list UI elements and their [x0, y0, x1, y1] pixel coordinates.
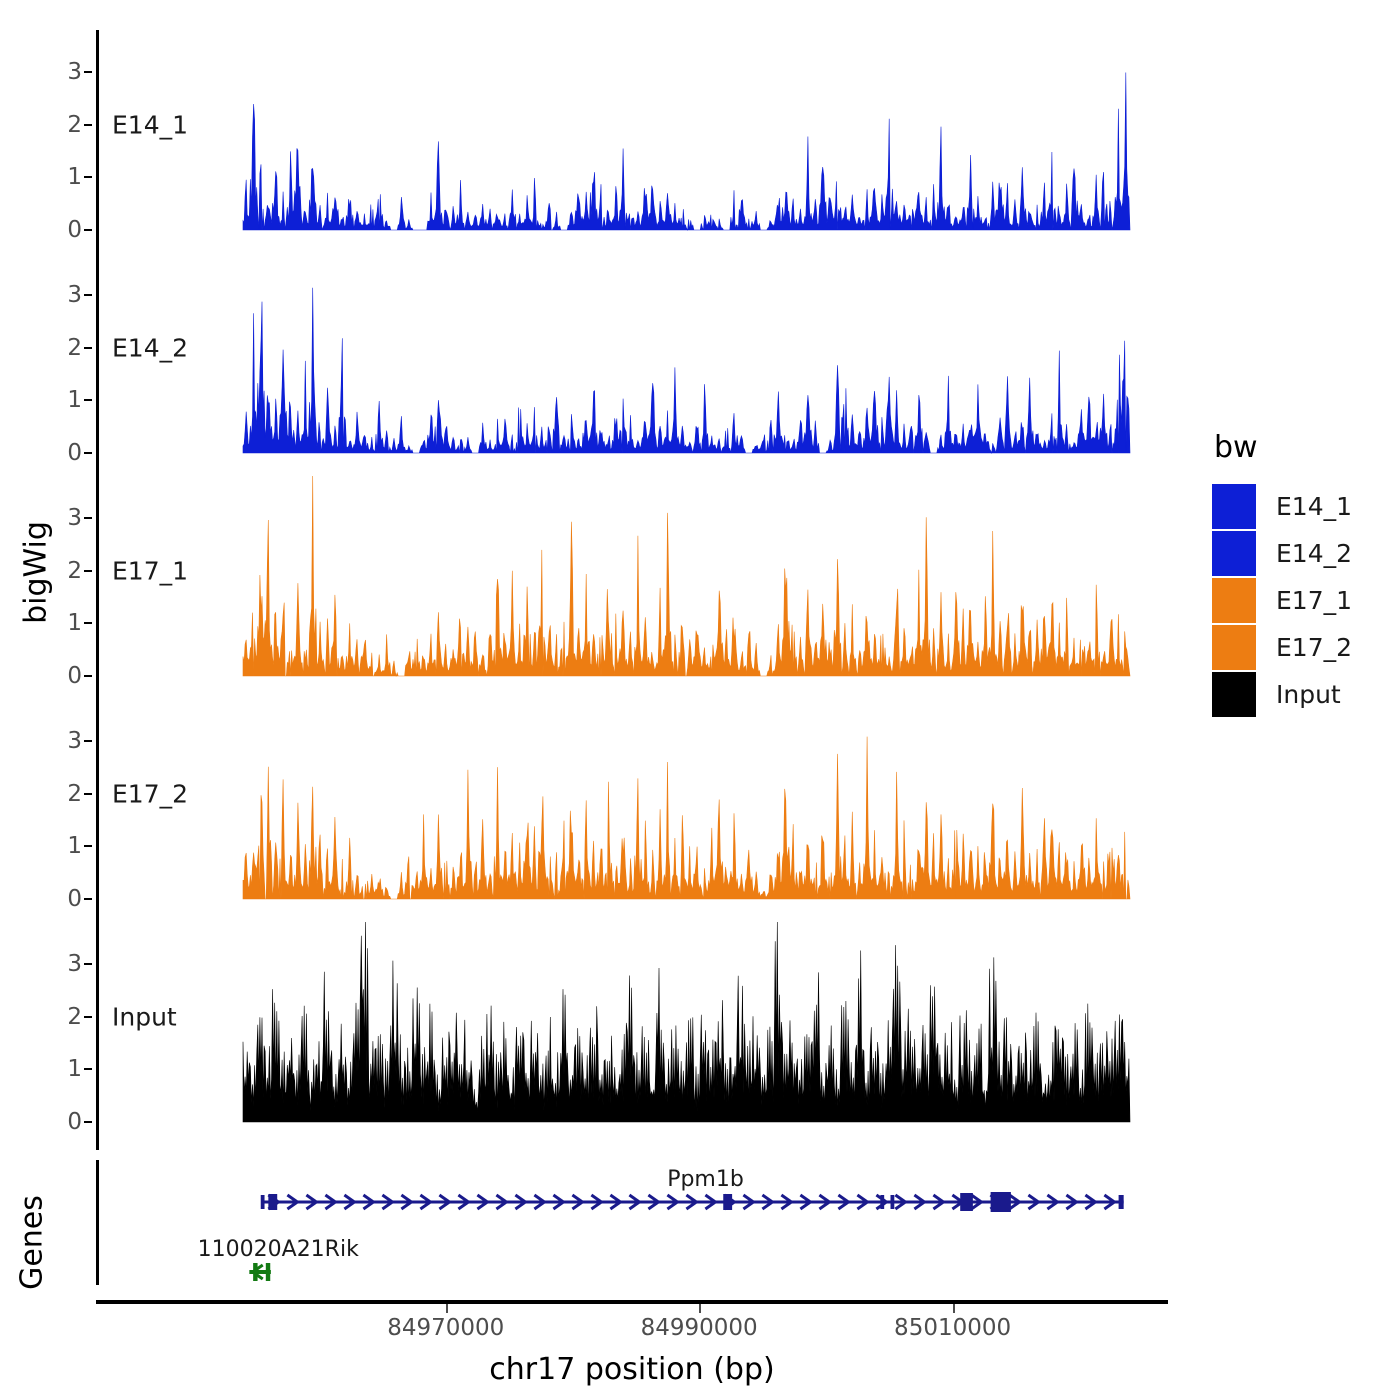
x-axis-line	[96, 1300, 1168, 1304]
y-tick-mark	[84, 622, 92, 624]
exon-block	[880, 1195, 884, 1209]
x-tick-label: 84970000	[387, 1315, 504, 1341]
y-tick-label: 2	[67, 781, 82, 807]
legend-title: bw	[1214, 430, 1392, 465]
y-tick-mark	[84, 793, 92, 795]
exon-block	[991, 1192, 1011, 1212]
track-label-e17_2: E17_2	[112, 779, 188, 808]
y-tick-mark	[84, 898, 92, 900]
y-tick-label: 1	[67, 387, 82, 413]
y-tick-label: 3	[67, 59, 82, 85]
exon-block	[1119, 1195, 1124, 1209]
legend-item-e17_2[interactable]: E17_2	[1212, 624, 1392, 671]
y-tick-labels: 0123	[44, 699, 92, 927]
y-tick-mark	[84, 1016, 92, 1018]
y-tick-mark	[84, 1121, 92, 1123]
y-tick-mark	[84, 294, 92, 296]
y-tick-mark	[84, 124, 92, 126]
y-tick-label: 2	[67, 1004, 82, 1030]
y-tick-mark	[84, 347, 92, 349]
legend-items: E14_1E14_2E17_1E17_2Input	[1212, 483, 1392, 718]
legend-swatch	[1212, 672, 1256, 717]
coverage-plot-e17_2	[99, 699, 1132, 927]
track-panel-input: 0123Input	[96, 922, 1132, 1150]
legend-swatch	[1212, 578, 1256, 623]
exon-block	[261, 1195, 265, 1209]
track-label-e17_1: E17_1	[112, 556, 188, 585]
exon-block	[723, 1194, 732, 1210]
y-tick-labels: 0123	[44, 922, 92, 1150]
gene-ppm1b[interactable]: Ppm1b	[261, 1167, 1124, 1212]
y-tick-mark	[84, 176, 92, 178]
legend-swatch	[1212, 531, 1256, 576]
coverage-plot-e17_1	[99, 476, 1132, 704]
x-tick-mark	[953, 1304, 955, 1313]
y-tick-mark	[84, 517, 92, 519]
y-tick-label: 0	[67, 440, 82, 466]
track-label-input: Input	[112, 1002, 177, 1031]
y-tick-label: 0	[67, 886, 82, 912]
legend-label: E14_1	[1276, 492, 1352, 521]
track-panel-e14_1: 0123E14_1	[96, 30, 1132, 258]
y-tick-label: 3	[67, 282, 82, 308]
exon-block	[253, 1263, 257, 1281]
y-tick-label: 1	[67, 833, 82, 859]
y-tick-label: 0	[67, 663, 82, 689]
y-tick-mark	[84, 675, 92, 677]
y-tick-label: 1	[67, 610, 82, 636]
gene-models: Ppm1b110020A21Rik	[99, 1160, 1132, 1290]
legend-item-input[interactable]: Input	[1212, 671, 1392, 718]
track-panel-e14_2: 0123E14_2	[96, 253, 1132, 481]
gene-label: Ppm1b	[667, 1167, 744, 1192]
y-tick-mark	[84, 452, 92, 454]
x-tick-label: 85010000	[894, 1315, 1011, 1341]
y-tick-label: 2	[67, 335, 82, 361]
y-axis-title-genes: Genes	[15, 1163, 50, 1323]
y-tick-labels: 0123	[44, 476, 92, 704]
track-panel-e17_2: 0123E17_2	[96, 699, 1132, 927]
legend-item-e17_1[interactable]: E17_1	[1212, 577, 1392, 624]
y-tick-labels: 0123	[44, 30, 92, 258]
exon-block	[266, 1263, 270, 1281]
track-panel-e17_1: 0123E17_1	[96, 476, 1132, 704]
x-tick-mark	[699, 1304, 701, 1313]
y-tick-labels: 0123	[44, 253, 92, 481]
y-tick-mark	[84, 1068, 92, 1070]
legend: bw E14_1E14_2E17_1E17_2Input	[1212, 430, 1392, 718]
y-tick-mark	[84, 963, 92, 965]
gene-label: 110020A21Rik	[198, 1237, 359, 1262]
exon-block	[891, 1195, 895, 1209]
y-tick-label: 2	[67, 558, 82, 584]
legend-swatch	[1212, 625, 1256, 670]
y-tick-label: 3	[67, 728, 82, 754]
genes-panel: Ppm1b110020A21Rik	[96, 1160, 1132, 1305]
legend-item-e14_1[interactable]: E14_1	[1212, 483, 1392, 530]
y-tick-mark	[84, 570, 92, 572]
y-tick-label: 3	[67, 951, 82, 977]
legend-label: Input	[1276, 680, 1341, 709]
coverage-plot-e14_2	[99, 253, 1132, 481]
legend-label: E17_2	[1276, 633, 1352, 662]
legend-label: E14_2	[1276, 539, 1352, 568]
exon-block	[960, 1193, 973, 1211]
y-tick-label: 0	[67, 217, 82, 243]
y-tick-mark	[84, 71, 92, 73]
gene-110020a21rik[interactable]: 110020A21Rik	[198, 1237, 359, 1281]
y-tick-label: 1	[67, 164, 82, 190]
y-tick-mark	[84, 845, 92, 847]
legend-swatch	[1212, 484, 1256, 529]
x-tick-mark	[446, 1304, 448, 1313]
y-tick-mark	[84, 229, 92, 231]
track-label-e14_1: E14_1	[112, 110, 188, 139]
y-tick-label: 1	[67, 1056, 82, 1082]
coverage-plot-e14_1	[99, 30, 1132, 258]
coverage-plot-input	[99, 922, 1132, 1150]
y-tick-label: 2	[67, 112, 82, 138]
y-tick-label: 3	[67, 505, 82, 531]
y-tick-mark	[84, 399, 92, 401]
track-label-e14_2: E14_2	[112, 333, 188, 362]
legend-item-e14_2[interactable]: E14_2	[1212, 530, 1392, 577]
x-axis-title: chr17 position (bp)	[96, 1352, 1168, 1387]
legend-label: E17_1	[1276, 586, 1352, 615]
y-tick-label: 0	[67, 1109, 82, 1135]
y-tick-mark	[84, 740, 92, 742]
exon-block	[268, 1194, 277, 1210]
x-tick-label: 84990000	[641, 1315, 758, 1341]
